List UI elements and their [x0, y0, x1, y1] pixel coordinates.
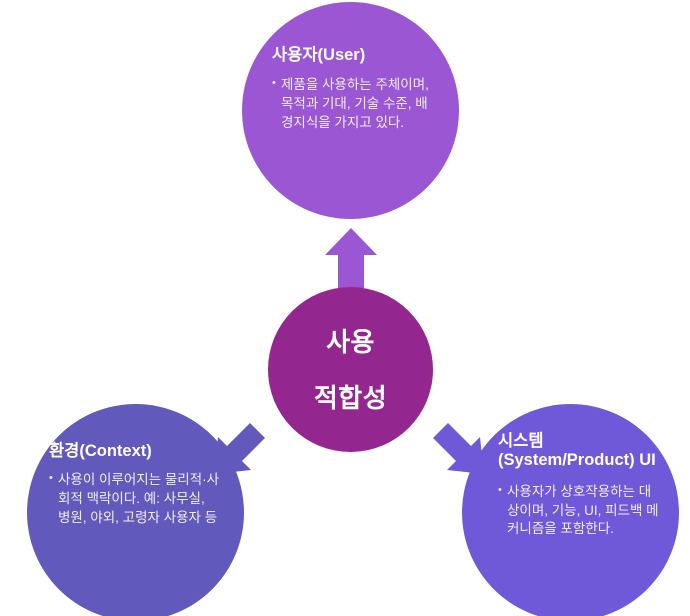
node-user[interactable]: 사용자(User) 제품을 사용하는 주체이며, 목적과 기대, 기술 수준, …	[242, 2, 459, 219]
node-center-usability[interactable]: 사용 적합성	[268, 287, 433, 452]
node-system-content: 시스템(System/Product) UI 사용자가 상호작용하는 대상이며,…	[462, 432, 679, 539]
node-user-bullet: 제품을 사용하는 주체이며, 목적과 기대, 기술 수준, 배경지식을 가지고 …	[272, 76, 433, 132]
node-context-bullet: 사용이 이루어지는 물리적·사회적 맥락이다. 예: 사무실, 병원, 야외, …	[49, 471, 220, 527]
node-system-title: 시스템(System/Product) UI	[498, 432, 663, 471]
node-center-line-1: 사용	[326, 329, 375, 355]
node-context[interactable]: 환경(Context) 사용이 이루어지는 물리적·사회적 맥락이다. 예: 사…	[27, 404, 244, 616]
node-system[interactable]: 시스템(System/Product) UI 사용자가 상호작용하는 대상이며,…	[462, 404, 679, 616]
node-system-bullet: 사용자가 상호작용하는 대상이며, 기능, UI, 피드백 메커니즘을 포함한다…	[498, 483, 663, 539]
node-context-content: 환경(Context) 사용이 이루어지는 물리적·사회적 맥락이다. 예: 사…	[27, 442, 244, 527]
node-center-line-2: 적합성	[314, 385, 387, 411]
node-user-content: 사용자(User) 제품을 사용하는 주체이며, 목적과 기대, 기술 수준, …	[242, 46, 459, 132]
usability-relationship-diagram: 사용자(User) 제품을 사용하는 주체이며, 목적과 기대, 기술 수준, …	[0, 0, 690, 616]
node-context-title: 환경(Context)	[49, 442, 220, 461]
block-arrow-up-icon	[325, 228, 377, 288]
node-user-title: 사용자(User)	[272, 46, 433, 65]
